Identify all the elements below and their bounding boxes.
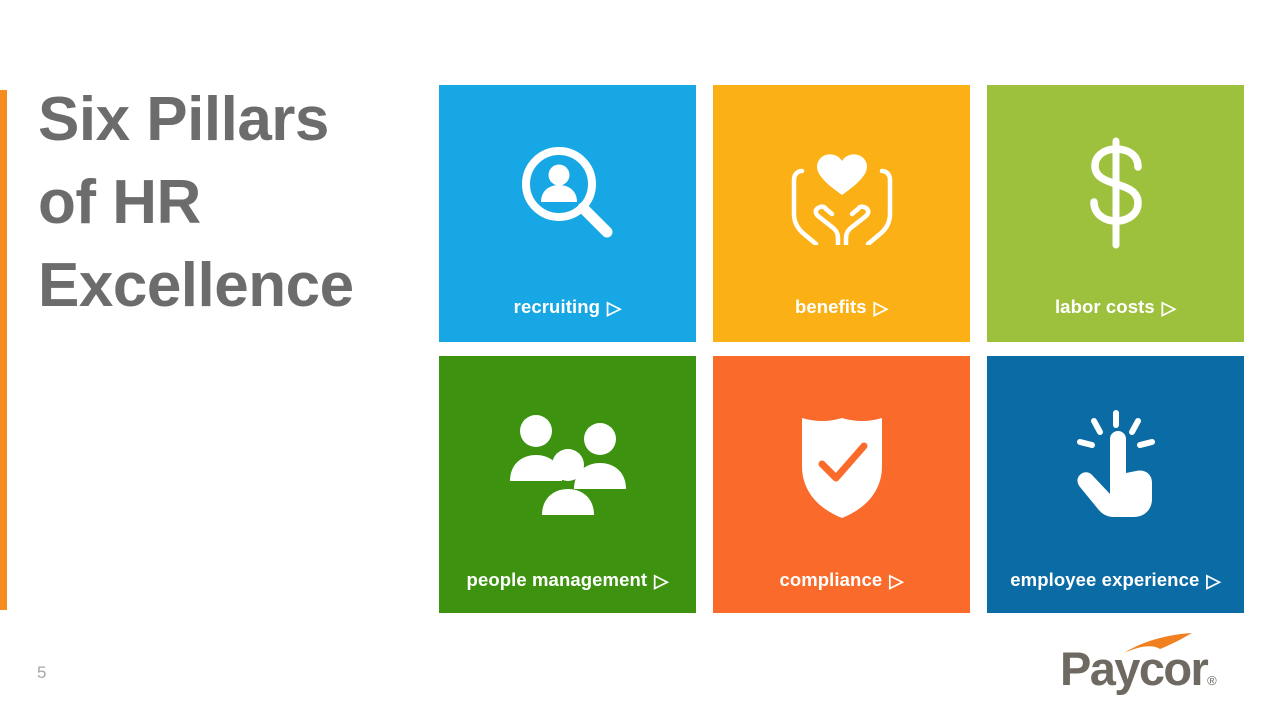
tile-label-people-management: people management▷ xyxy=(439,569,696,591)
tile-labor-costs[interactable]: labor costs▷ xyxy=(987,85,1244,342)
page-title-line-3: Excellence xyxy=(38,244,428,327)
page-title-line-2: of HR xyxy=(38,161,428,244)
play-triangle-icon[interactable]: ▷ xyxy=(654,570,668,592)
shield-check-icon xyxy=(713,404,970,524)
tile-label-text: benefits xyxy=(795,296,867,317)
tile-label-employee-experience: employee experience▷ xyxy=(987,569,1244,591)
magnifier-person-icon xyxy=(439,133,696,253)
play-triangle-icon[interactable]: ▷ xyxy=(607,297,621,319)
tile-label-text: labor costs xyxy=(1055,296,1155,317)
registered-trademark-icon: ® xyxy=(1207,673,1217,688)
pillars-grid: recruiting▷ benefits▷ xyxy=(439,85,1243,613)
left-accent-bar xyxy=(0,90,7,610)
page-title-line-1: Six Pillars xyxy=(38,78,428,161)
paycor-wordmark-text: Paycor xyxy=(1060,642,1207,695)
slide: Six Pillars of HR Excellence recruiting▷ xyxy=(0,0,1280,720)
play-triangle-icon[interactable]: ▷ xyxy=(874,297,888,319)
dollar-sign-icon xyxy=(987,133,1244,253)
tile-label-text: compliance xyxy=(779,569,882,590)
three-people-icon xyxy=(439,404,696,524)
tile-label-text: recruiting xyxy=(514,296,600,317)
paycor-logo: Paycor® xyxy=(1060,630,1250,692)
tile-people-management[interactable]: people management▷ xyxy=(439,356,696,613)
page-title: Six Pillars of HR Excellence xyxy=(38,78,428,327)
tile-label-recruiting: recruiting▷ xyxy=(439,296,696,318)
tile-employee-experience[interactable]: employee experience▷ xyxy=(987,356,1244,613)
tile-benefits[interactable]: benefits▷ xyxy=(713,85,970,342)
hands-heart-icon xyxy=(713,133,970,253)
page-number: 5 xyxy=(37,663,46,683)
tile-label-text: employee experience xyxy=(1010,569,1199,590)
tile-label-labor-costs: labor costs▷ xyxy=(987,296,1244,318)
tile-compliance[interactable]: compliance▷ xyxy=(713,356,970,613)
tile-label-text: people management xyxy=(467,569,648,590)
play-triangle-icon[interactable]: ▷ xyxy=(889,570,903,592)
tile-label-benefits: benefits▷ xyxy=(713,296,970,318)
tile-recruiting[interactable]: recruiting▷ xyxy=(439,85,696,342)
play-triangle-icon[interactable]: ▷ xyxy=(1206,570,1220,592)
paycor-wordmark: Paycor® xyxy=(1060,645,1217,692)
play-triangle-icon[interactable]: ▷ xyxy=(1162,297,1176,319)
tapping-hand-icon xyxy=(987,404,1244,524)
tile-label-compliance: compliance▷ xyxy=(713,569,970,591)
